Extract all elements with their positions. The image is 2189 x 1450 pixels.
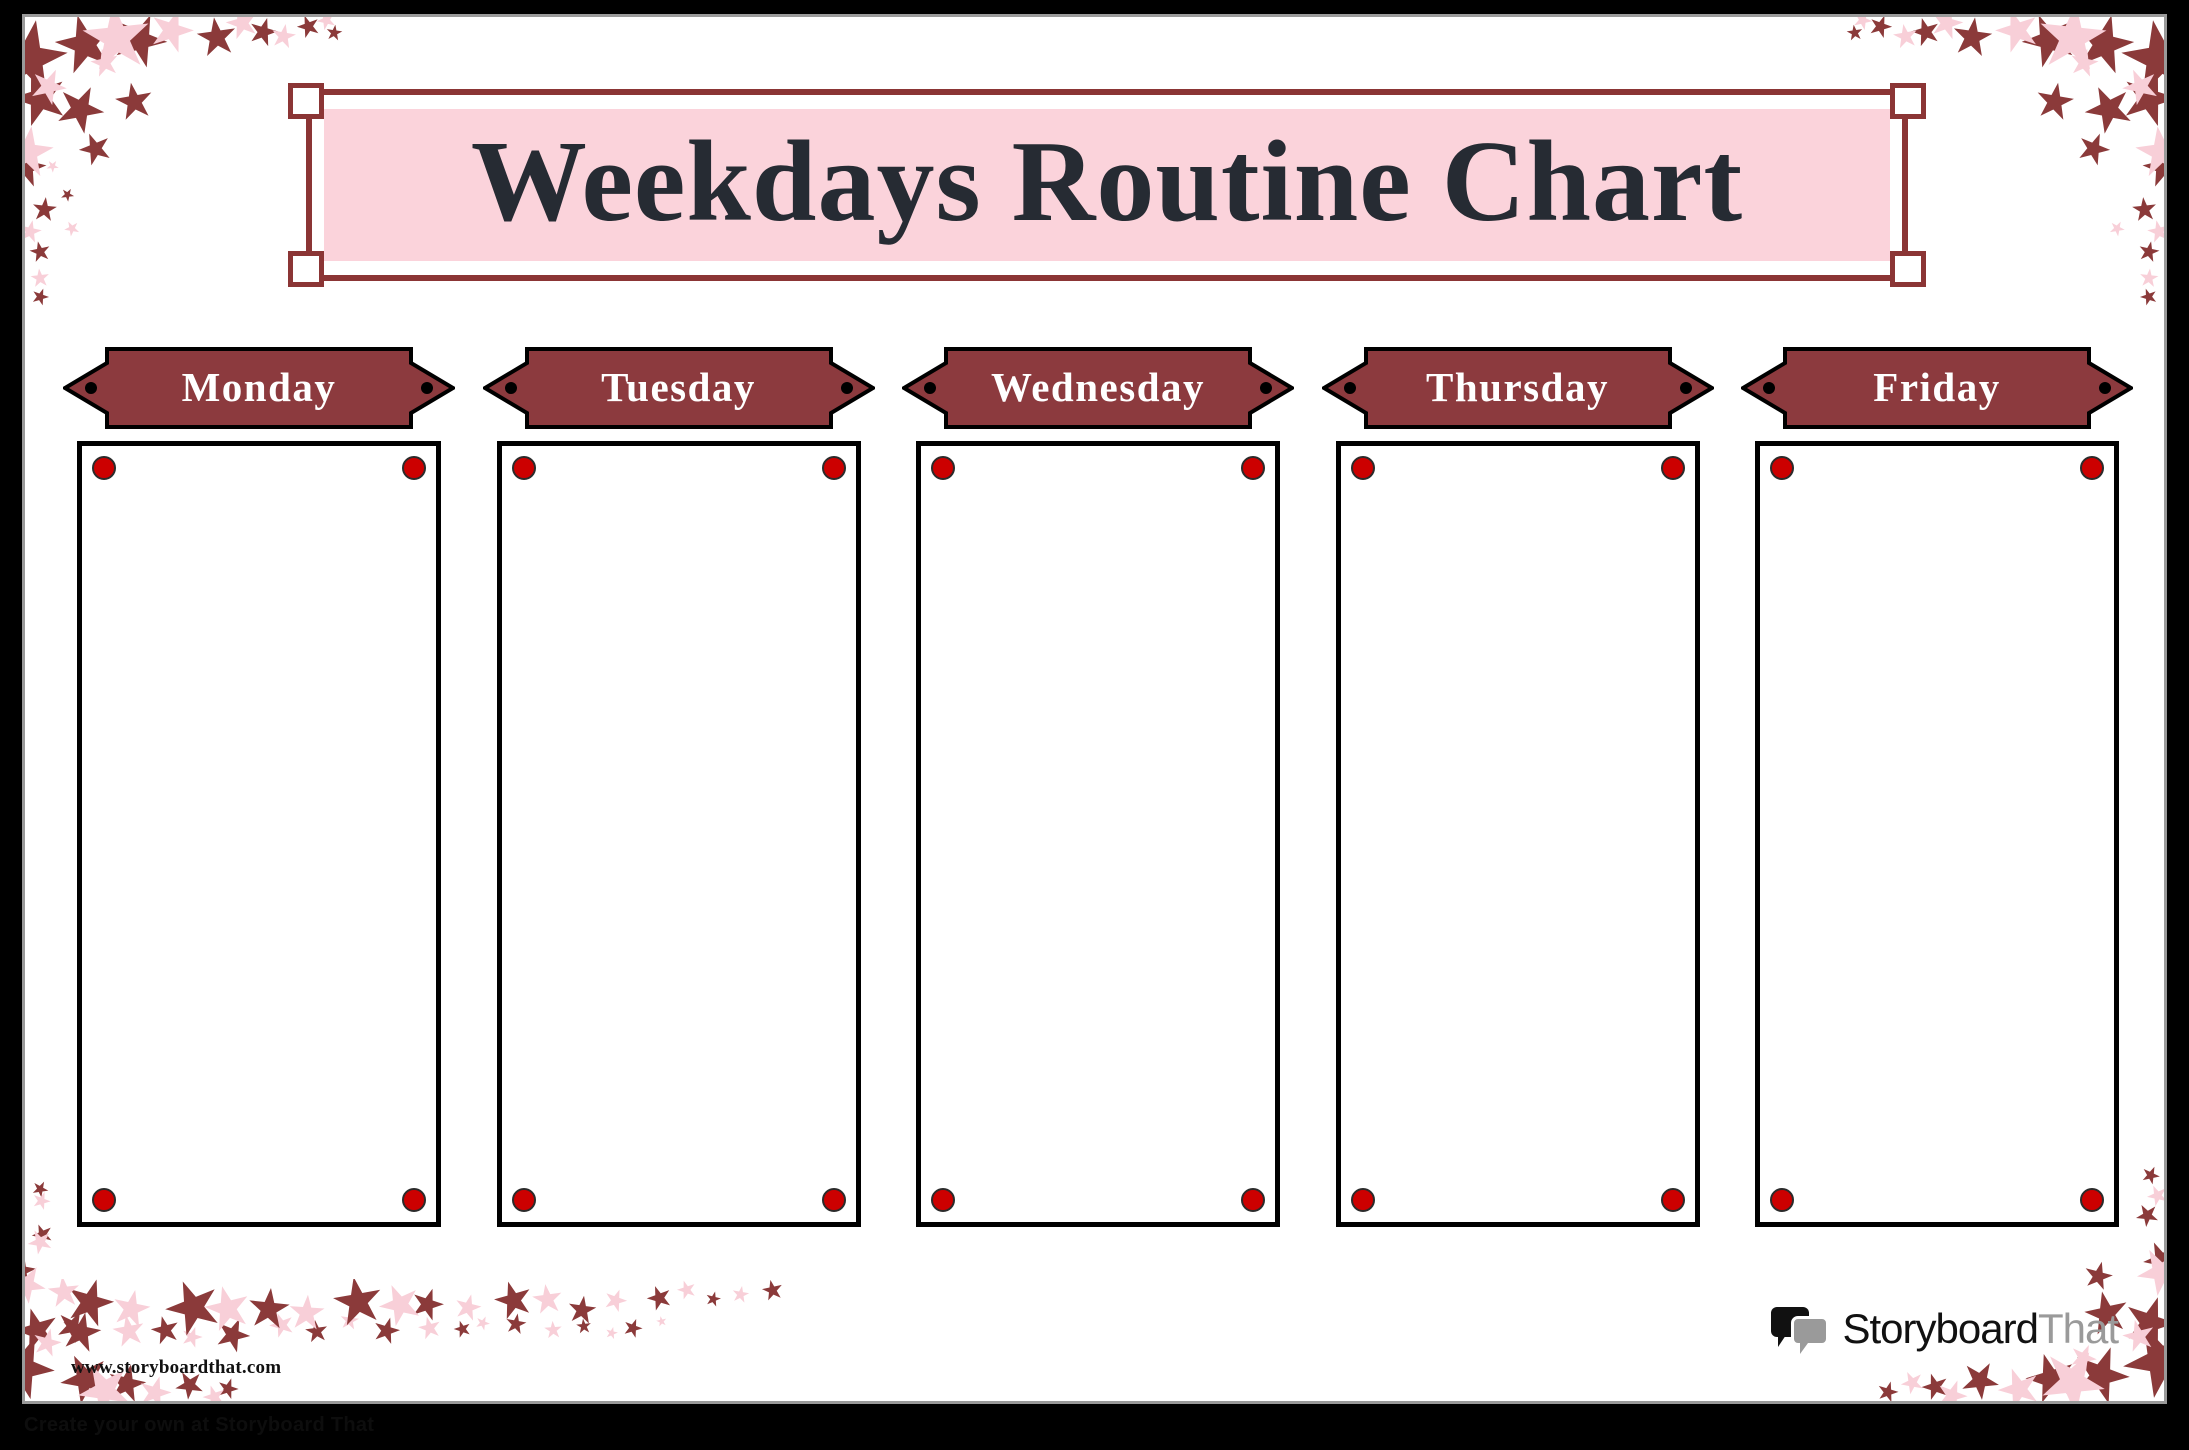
red-dot-icon: [512, 456, 536, 480]
day-label-monday: Monday: [63, 347, 455, 429]
logo-word-that: That: [2038, 1305, 2118, 1353]
red-dot-icon: [931, 1188, 955, 1212]
red-dot-icon: [822, 1188, 846, 1212]
poster-canvas: Weekdays Routine Chart Monday: [0, 0, 2189, 1450]
title-corner-mark-top-right: [1890, 83, 1926, 119]
day-box-tuesday[interactable]: [497, 441, 861, 1227]
title-corner-mark-bottom-left: [288, 251, 324, 287]
day-column-monday: Monday: [63, 347, 455, 1267]
red-dot-icon: [1661, 456, 1685, 480]
day-box-thursday[interactable]: [1336, 441, 1700, 1227]
red-dot-icon: [1351, 1188, 1375, 1212]
day-banner-wednesday: Wednesday: [902, 347, 1294, 429]
day-columns: Monday Tuesday: [63, 347, 2133, 1267]
day-column-wednesday: Wednesday: [902, 347, 1294, 1267]
day-column-thursday: Thursday: [1322, 347, 1714, 1267]
speech-bubble-front-icon: [1791, 1316, 1829, 1346]
red-dot-icon: [931, 456, 955, 480]
day-column-friday: Friday: [1741, 347, 2133, 1267]
day-label-tuesday: Tuesday: [483, 347, 875, 429]
page-title: Weekdays Routine Chart: [471, 124, 1743, 246]
red-dot-icon: [2080, 1188, 2104, 1212]
day-column-tuesday: Tuesday: [483, 347, 875, 1267]
day-banner-tuesday: Tuesday: [483, 347, 875, 429]
day-box-friday[interactable]: [1755, 441, 2119, 1227]
red-dot-icon: [402, 456, 426, 480]
storyboardthat-logo: Storyboard That: [1771, 1303, 2119, 1355]
red-dot-icon: [1770, 1188, 1794, 1212]
day-box-wednesday[interactable]: [916, 441, 1280, 1227]
day-label-wednesday: Wednesday: [902, 347, 1294, 429]
red-dot-icon: [92, 1188, 116, 1212]
title-corner-mark-bottom-right: [1890, 251, 1926, 287]
red-dot-icon: [1241, 456, 1265, 480]
red-dot-icon: [1770, 456, 1794, 480]
day-banner-friday: Friday: [1741, 347, 2133, 429]
title-bar: Weekdays Routine Chart: [324, 109, 1890, 261]
title-block: Weekdays Routine Chart: [288, 89, 1926, 281]
red-dot-icon: [512, 1188, 536, 1212]
day-box-monday[interactable]: [77, 441, 441, 1227]
day-banner-thursday: Thursday: [1322, 347, 1714, 429]
red-dot-icon: [92, 456, 116, 480]
red-dot-icon: [2080, 456, 2104, 480]
red-dot-icon: [1241, 1188, 1265, 1212]
day-label-thursday: Thursday: [1322, 347, 1714, 429]
red-dot-icon: [1661, 1188, 1685, 1212]
red-dot-icon: [1351, 456, 1375, 480]
day-banner-monday: Monday: [63, 347, 455, 429]
day-label-friday: Friday: [1741, 347, 2133, 429]
speech-bubble-icon: [1771, 1307, 1833, 1351]
site-url: www.storyboardthat.com: [71, 1357, 281, 1379]
poster-sheet: Weekdays Routine Chart Monday: [22, 14, 2167, 1404]
title-corner-mark-top-left: [288, 83, 324, 119]
red-dot-icon: [402, 1188, 426, 1212]
red-dot-icon: [822, 456, 846, 480]
logo-word-storyboard: Storyboard: [1843, 1305, 2038, 1353]
footer-note: Create your own at Storyboard That: [24, 1414, 374, 1437]
